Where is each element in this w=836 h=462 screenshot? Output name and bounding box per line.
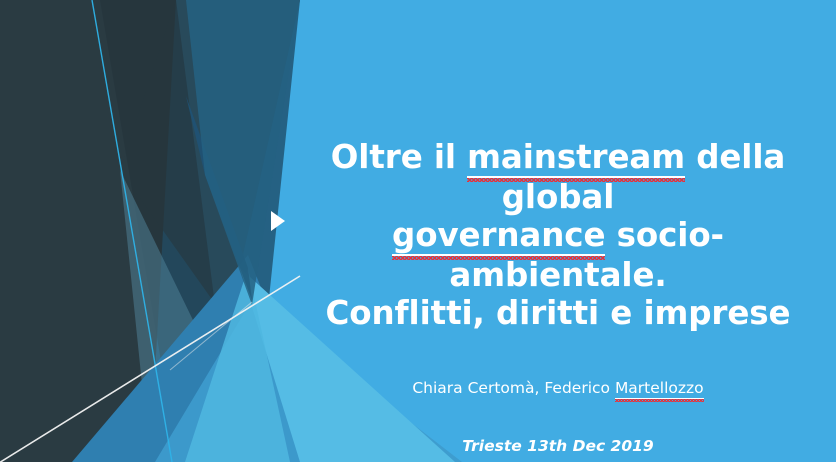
event-date-line: Trieste 13th Dec 2019: [296, 399, 820, 456]
title-line1-before: Oltre il: [331, 138, 467, 176]
authors-line: Chiara Certomà, Federico Martellozzo: [296, 332, 820, 399]
play-triangle-icon: [271, 211, 285, 231]
title-text-block: Oltre il mainstream della global governa…: [296, 138, 820, 456]
title-line-1: Oltre il mainstream della global: [331, 138, 785, 216]
spellcheck-word-mainstream: mainstream: [467, 138, 685, 178]
slide-content: Oltre il mainstream della global governa…: [0, 0, 836, 462]
presentation-slide: Oltre il mainstream della global governa…: [0, 0, 836, 462]
title-line-2: governance socio-ambientale.: [392, 216, 724, 294]
spellcheck-word-martellozzo: Martellozzo: [615, 378, 704, 399]
authors-names: Chiara Certomà, Federico: [412, 379, 615, 397]
page-title: Oltre il mainstream della global governa…: [296, 138, 820, 332]
spellcheck-word-governance: governance: [392, 216, 605, 256]
title-line-3: Conflitti, diritti e imprese: [326, 294, 791, 332]
